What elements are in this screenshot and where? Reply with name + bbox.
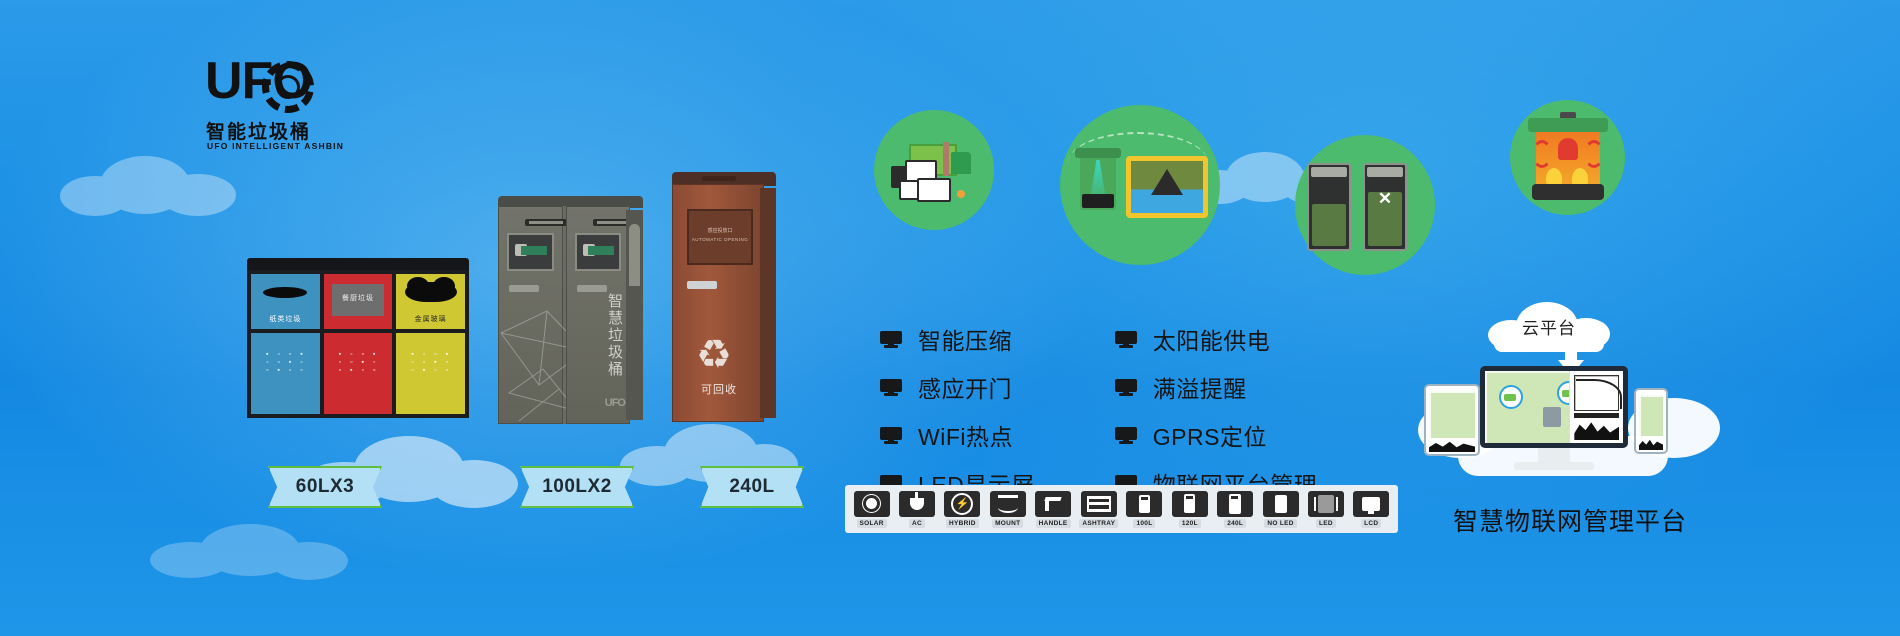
area-chart-widget bbox=[1429, 440, 1475, 452]
triple-compartment-bin: 纸类垃圾 ▪ ◦ ▫ ▪◦ ▫ ▪ ◦▫ ▪ ◦ ▫ 餐厨垃圾 ▪ ◦ ▫ ▪◦… bbox=[247, 258, 469, 423]
server-icon bbox=[1543, 407, 1561, 427]
spec-caption: HYBRID bbox=[946, 519, 979, 528]
capacity-label: 60LX3 bbox=[296, 476, 354, 498]
led-icon bbox=[1308, 491, 1344, 517]
bin-upper-panel: 纸类垃圾 bbox=[251, 274, 320, 329]
bin-side-panel bbox=[626, 210, 643, 420]
oval-slot-icon bbox=[263, 287, 307, 298]
area-chart-widget bbox=[1574, 418, 1619, 440]
bin-lower-panel: ▪ ◦ ▫ ▪◦ ▫ ▪ ◦▫ ▪ ◦ ▫ bbox=[396, 333, 465, 414]
bin-door-left bbox=[498, 206, 563, 424]
bin-lower-panel: ▪ ◦ ▫ ▪◦ ▫ ▪ ◦▫ ▪ ◦ ▫ bbox=[251, 333, 320, 414]
smartphone-device bbox=[1634, 388, 1668, 454]
spec-icon-strip: SOLAR AC ⚡ HYBRID MOUNT HANDLE ASHTRAY 1… bbox=[845, 485, 1398, 533]
bin-compartment-paper: 纸类垃圾 ▪ ◦ ▫ ▪◦ ▫ ▪ ◦▫ ▪ ◦ ▫ bbox=[251, 274, 320, 414]
bin-side-panel bbox=[760, 188, 776, 418]
spec-item-lcd: LCD bbox=[1353, 491, 1390, 528]
litter-graphic: ▪ ◦ ▫ ▪◦ ▫ ▪ ◦▫ ▪ ◦ ▫ bbox=[251, 351, 320, 375]
bearing-ring-icon bbox=[262, 61, 314, 113]
cloud-platform-badge: 云平台 bbox=[1488, 298, 1610, 350]
city-map-widget bbox=[1485, 371, 1569, 443]
spec-item-no-led: NO LED bbox=[1262, 491, 1299, 528]
feature-item: 太阳能供电 bbox=[1115, 322, 1318, 356]
feature-circle-fill-level: ✕ bbox=[1295, 135, 1435, 275]
feature-item: 满溢提醒 bbox=[1115, 370, 1318, 404]
spec-caption: 100L bbox=[1133, 519, 1155, 528]
smart-gray-bin: 智慧垃圾桶 UFO bbox=[498, 196, 643, 424]
panel-line-1: 感应投放口 bbox=[689, 227, 751, 234]
feature-circle-waste-detection bbox=[1060, 105, 1220, 265]
display-screen-icon bbox=[575, 233, 622, 271]
feature-label: WiFi热点 bbox=[918, 418, 1013, 452]
recycle-label: 可回收 bbox=[673, 381, 765, 397]
map-widget bbox=[1639, 395, 1663, 436]
monitor-icon bbox=[1115, 379, 1137, 396]
cloud-platform-label: 云平台 bbox=[1488, 314, 1610, 339]
handle-icon bbox=[577, 285, 607, 292]
monitor-base bbox=[1514, 462, 1594, 470]
spec-item-100l: 100L bbox=[1126, 491, 1163, 528]
cloud-slot-icon bbox=[405, 282, 457, 302]
map-widget bbox=[1429, 391, 1475, 438]
solar-panel-icon bbox=[854, 491, 890, 517]
feature-item: GPRS定位 bbox=[1115, 418, 1318, 452]
bin-vertical-label: 智慧垃圾桶 bbox=[606, 293, 623, 378]
feature-label: GPRS定位 bbox=[1153, 418, 1267, 452]
bin-door-right: 智慧垃圾桶 UFO bbox=[566, 206, 631, 424]
platform-title: 智慧物联网管理平台 bbox=[1420, 502, 1720, 538]
feature-circle-fire-alarm bbox=[1510, 100, 1625, 215]
vent-strip bbox=[702, 176, 736, 181]
feature-list: 智能压缩 感应开门 WiFi热点 LED显示屏 太阳能供电 满溢提醒 bbox=[880, 322, 1317, 500]
bin-body: 感应投放口 AUTOMATIC OPENING ♻ 可回收 bbox=[672, 184, 764, 422]
brown-recycling-bin: 感应投放口 AUTOMATIC OPENING ♻ 可回收 bbox=[672, 172, 776, 422]
handle-icon bbox=[1035, 491, 1071, 517]
feature-label: 满溢提醒 bbox=[1153, 370, 1247, 404]
spec-caption: MOUNT bbox=[992, 519, 1023, 528]
spec-caption: HANDLE bbox=[1036, 519, 1071, 528]
bin-upper-panel: 金属玻璃 bbox=[396, 274, 465, 329]
garbage-truck-and-devices-icon bbox=[874, 110, 994, 230]
iot-dashboard-illustration bbox=[1418, 348, 1718, 488]
bin-compartment-kitchen: 餐厨垃圾 ▪ ◦ ▫ ▪◦ ▫ ▪ ◦▫ ▪ ◦ ▫ bbox=[324, 274, 393, 414]
bin-body: 纸类垃圾 ▪ ◦ ▫ ▪◦ ▫ ▪ ◦▫ ▪ ◦ ▫ 餐厨垃圾 ▪ ◦ ▫ ▪◦… bbox=[247, 270, 469, 418]
power-plug-icon bbox=[899, 491, 935, 517]
feature-label: 太阳能供电 bbox=[1153, 322, 1271, 356]
logo-chinese-name: 智能垃圾桶 bbox=[206, 117, 311, 144]
spec-item-mount: MOUNT bbox=[989, 491, 1026, 528]
wall-mount-icon bbox=[990, 491, 1026, 517]
bin-lower-panel: ▪ ◦ ▫ ▪◦ ▫ ▪ ◦▫ ▪ ◦ ▫ bbox=[324, 333, 393, 414]
area-chart-widget bbox=[1639, 438, 1663, 450]
tablet-device bbox=[1424, 384, 1480, 456]
fire-alarm-bin-icon bbox=[1510, 100, 1625, 215]
litter-graphic: ▪ ◦ ▫ ▪◦ ▫ ▪ ◦▫ ▪ ◦ ▫ bbox=[324, 351, 393, 375]
spec-caption: NO LED bbox=[1264, 519, 1296, 528]
handle-icon bbox=[687, 281, 717, 289]
recycle-icon: ♻ bbox=[696, 335, 740, 375]
spec-item-120l: 120L bbox=[1171, 491, 1208, 528]
spec-item-solar: SOLAR bbox=[853, 491, 890, 528]
spec-item-hybrid: ⚡ HYBRID bbox=[944, 491, 981, 528]
feature-circle-collection-fleet bbox=[874, 110, 994, 230]
compartment-label: 纸类垃圾 bbox=[251, 314, 320, 324]
monitor-icon bbox=[880, 379, 902, 396]
display-screen-icon bbox=[507, 233, 554, 271]
sensor-panel: 感应投放口 AUTOMATIC OPENING bbox=[687, 209, 753, 265]
vent-strip bbox=[525, 219, 567, 226]
monitor-screen bbox=[1485, 371, 1623, 443]
compartment-label: 餐厨垃圾 bbox=[324, 293, 393, 303]
monitor-icon bbox=[880, 331, 902, 348]
lcd-screen-icon bbox=[1353, 491, 1389, 517]
bin-scanning-icon bbox=[1060, 105, 1220, 265]
spec-item-ashtray: ASHTRAY bbox=[1080, 491, 1118, 528]
background-cloud bbox=[60, 150, 240, 220]
feature-item: 智能压缩 bbox=[880, 322, 1035, 356]
spec-item-handle: HANDLE bbox=[1034, 491, 1071, 528]
spec-item-ac: AC bbox=[898, 491, 935, 528]
two-bins-fill-level-icon: ✕ bbox=[1295, 135, 1435, 275]
litter-graphic: ▪ ◦ ▫ ▪◦ ▫ ▪ ◦▫ ▪ ◦ ▫ bbox=[396, 351, 465, 375]
compartment-label: 金属玻璃 bbox=[396, 314, 465, 324]
spec-caption: AC bbox=[909, 519, 925, 528]
handle-icon bbox=[509, 285, 539, 292]
capacity-banner: 100LX2 bbox=[520, 466, 634, 508]
bin-upper-panel: 餐厨垃圾 bbox=[324, 274, 393, 329]
poster-canvas: UFO 智能垃圾桶 UFO INTELLIGENT ASHBIN 纸类垃圾 ▪ … bbox=[0, 0, 1900, 636]
desktop-monitor bbox=[1480, 366, 1628, 448]
bin-brand-mark: UFO bbox=[605, 397, 625, 409]
spec-caption: LED bbox=[1316, 519, 1336, 528]
background-cloud bbox=[150, 520, 350, 580]
no-led-icon bbox=[1263, 491, 1299, 517]
spec-caption: 120L bbox=[1179, 519, 1201, 528]
feature-label: 感应开门 bbox=[918, 370, 1012, 404]
capacity-banner: 240L bbox=[700, 466, 804, 508]
feature-item: WiFi热点 bbox=[880, 418, 1035, 452]
feature-column-left: 智能压缩 感应开门 WiFi热点 LED显示屏 bbox=[880, 322, 1035, 500]
spec-caption: 240L bbox=[1224, 519, 1246, 528]
capacity-label: 240L bbox=[729, 476, 774, 498]
logo-english-name: UFO INTELLIGENT ASHBIN bbox=[207, 141, 344, 151]
feature-column-right: 太阳能供电 满溢提醒 GPRS定位 物联网平台管理 bbox=[1115, 322, 1318, 500]
bin-100l-icon bbox=[1126, 491, 1162, 517]
spec-item-240l: 240L bbox=[1217, 491, 1254, 528]
bin-body: 智慧垃圾桶 UFO bbox=[498, 206, 630, 424]
capacity-label: 100LX2 bbox=[542, 476, 612, 498]
monitor-icon bbox=[880, 427, 902, 444]
capacity-banner: 60LX3 bbox=[268, 466, 382, 508]
panel-line-2: AUTOMATIC OPENING bbox=[689, 237, 751, 242]
spec-item-led: LED bbox=[1307, 491, 1344, 528]
spec-caption: SOLAR bbox=[857, 519, 887, 528]
spec-caption: LCD bbox=[1361, 519, 1381, 528]
bin-240l-icon bbox=[1217, 491, 1253, 517]
spec-caption: ASHTRAY bbox=[1079, 519, 1118, 528]
feature-item: 感应开门 bbox=[880, 370, 1035, 404]
monitor-icon bbox=[1115, 427, 1137, 444]
feature-label: 智能压缩 bbox=[918, 322, 1012, 356]
brand-logo: UFO 智能垃圾桶 UFO INTELLIGENT ASHBIN bbox=[205, 55, 315, 160]
hybrid-power-icon: ⚡ bbox=[944, 491, 980, 517]
bin-120l-icon bbox=[1172, 491, 1208, 517]
monitor-icon bbox=[1115, 331, 1137, 348]
analytics-widgets bbox=[1569, 371, 1623, 443]
ashtray-icon bbox=[1081, 491, 1117, 517]
bin-compartment-metal-glass: 金属玻璃 ▪ ◦ ▫ ▪◦ ▫ ▪ ◦▫ ▪ ◦ ▫ bbox=[396, 274, 465, 414]
